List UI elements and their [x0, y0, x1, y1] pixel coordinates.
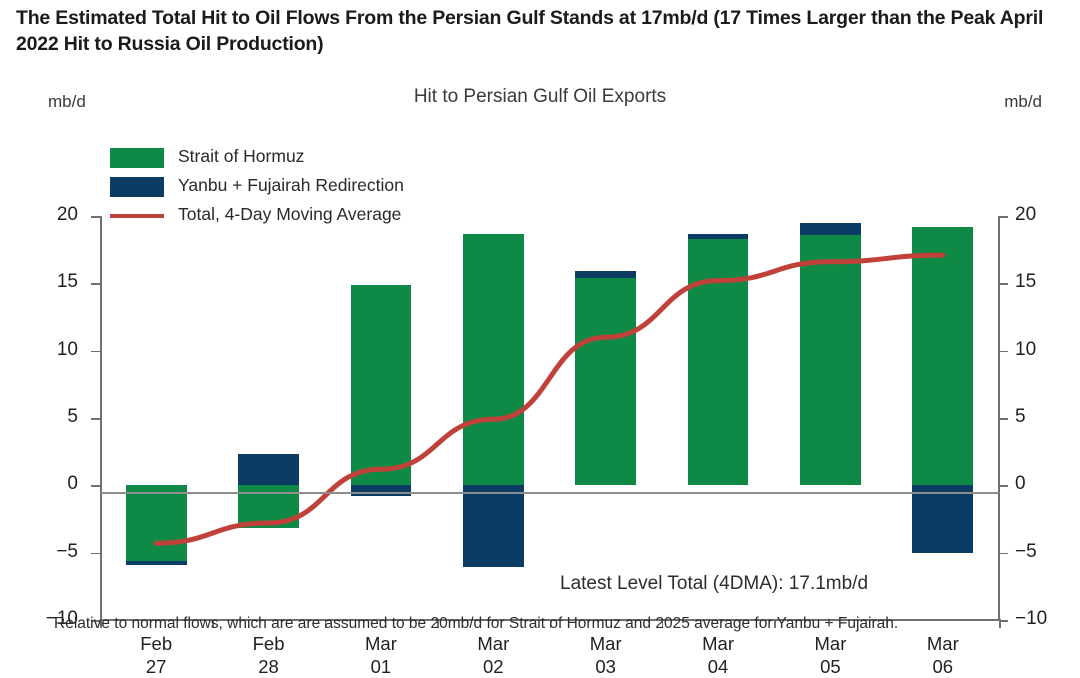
zero-line — [100, 492, 999, 494]
legend-label: Strait of Hormuz — [178, 146, 304, 167]
x-axis-label-line: 06 — [888, 655, 998, 678]
chart-page: The Estimated Total Hit to Oil Flows Fro… — [0, 0, 1080, 666]
x-axis-label: Mar01 — [326, 632, 436, 678]
x-axis-label-line: Mar — [888, 632, 998, 655]
x-axis-label-line: 02 — [438, 655, 548, 678]
y-tick-label-left: 15 — [22, 271, 78, 293]
x-axis-label-line: 27 — [101, 655, 211, 678]
legend-item-yanbu-fujairah[interactable]: Yanbu + Fujairah Redirection — [110, 175, 404, 197]
x-axis-label-line: 28 — [214, 655, 324, 678]
legend-item-moving-average[interactable]: Total, 4-Day Moving Average — [110, 204, 404, 226]
moving-average-path — [156, 255, 943, 543]
y-tick-left — [91, 553, 100, 555]
y-tick-label-right: 5 — [1015, 406, 1071, 428]
y-tick-right — [999, 553, 1008, 555]
x-axis-label-line: Feb — [214, 632, 324, 655]
x-axis-label: Feb27 — [101, 632, 211, 678]
legend-line-icon-red — [110, 206, 164, 226]
y-tick-label-left: 0 — [22, 473, 78, 495]
chart-area: Hit to Persian Gulf Oil Exports mb/d mb/… — [0, 86, 1080, 606]
x-axis-label-line: Feb — [101, 632, 211, 655]
moving-average-line — [100, 216, 999, 620]
x-axis-label: Mar05 — [775, 632, 885, 678]
chart-footnote: Relative to normal flows, which are are … — [54, 614, 1034, 635]
x-axis-label-line: 01 — [326, 655, 436, 678]
legend-swatch-icon-green — [110, 148, 164, 168]
y-tick-label-right: 0 — [1015, 473, 1071, 495]
y-tick-label-left: 20 — [22, 204, 78, 226]
x-axis-label-line: Mar — [663, 632, 773, 655]
y-tick-left — [91, 418, 100, 420]
y-axis-unit-right: mb/d — [1004, 92, 1042, 112]
y-tick-label-left: 5 — [22, 406, 78, 428]
x-axis-label-line: Mar — [326, 632, 436, 655]
y-tick-left — [91, 283, 100, 285]
y-tick-label-left: −5 — [22, 541, 78, 563]
y-tick-label-right: −5 — [1015, 541, 1071, 563]
y-tick-left — [91, 216, 100, 218]
y-axis-unit-left: mb/d — [48, 92, 86, 112]
y-tick-left — [91, 485, 100, 487]
page-headline: The Estimated Total Hit to Oil Flows Fro… — [16, 6, 1074, 58]
x-axis-label-line: 04 — [663, 655, 773, 678]
latest-level-annotation: Latest Level Total (4DMA): 17.1mb/d — [560, 573, 868, 595]
y-tick-left — [91, 351, 100, 353]
legend-label: Yanbu + Fujairah Redirection — [178, 175, 404, 196]
chart-title: Hit to Persian Gulf Oil Exports — [0, 86, 1080, 108]
x-axis-label-line: Mar — [438, 632, 548, 655]
y-tick-label-left: 10 — [22, 339, 78, 361]
legend-swatch-icon-navy — [110, 177, 164, 197]
x-axis-label-line: 03 — [551, 655, 661, 678]
x-axis-label-line: 05 — [775, 655, 885, 678]
y-tick-label-right: 10 — [1015, 339, 1071, 361]
x-axis-label: Mar06 — [888, 632, 998, 678]
legend-item-strait-of-hormuz[interactable]: Strait of Hormuz — [110, 146, 404, 168]
x-axis-label-line: Mar — [775, 632, 885, 655]
y-tick-right — [999, 418, 1008, 420]
y-tick-label-right: 15 — [1015, 271, 1071, 293]
y-tick-right — [999, 283, 1008, 285]
y-tick-label-right: 20 — [1015, 204, 1071, 226]
x-axis-label: Mar04 — [663, 632, 773, 678]
x-axis-label: Mar02 — [438, 632, 548, 678]
y-tick-right — [999, 485, 1008, 487]
x-axis-label: Feb28 — [214, 632, 324, 678]
x-axis-label: Mar03 — [551, 632, 661, 678]
x-axis-label-line: Mar — [551, 632, 661, 655]
chart-legend: Strait of Hormuz Yanbu + Fujairah Redire… — [110, 146, 404, 233]
y-tick-right — [999, 216, 1008, 218]
legend-label: Total, 4-Day Moving Average — [178, 204, 401, 225]
y-tick-right — [999, 351, 1008, 353]
